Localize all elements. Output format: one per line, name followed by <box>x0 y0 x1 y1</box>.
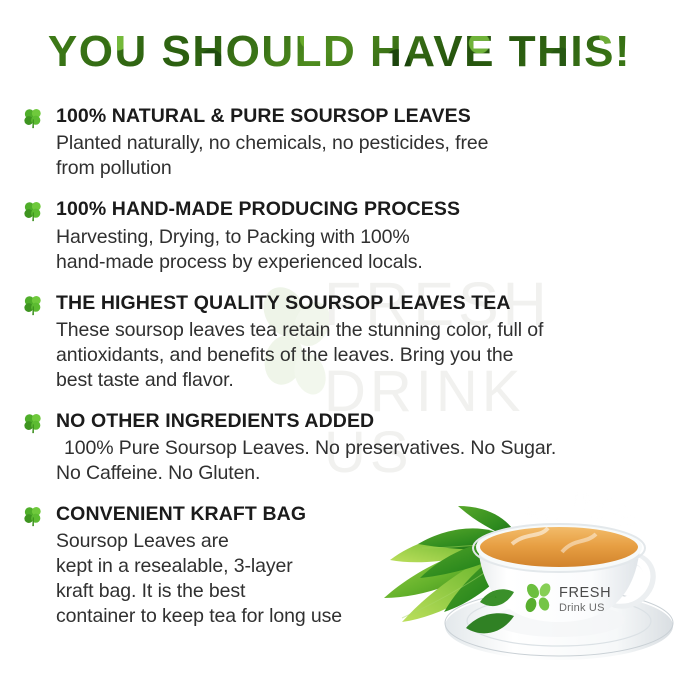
clover-bullet-icon <box>22 200 44 222</box>
cup-logo-line2: Drink US <box>559 602 605 614</box>
clover-bullet-icon <box>22 294 44 316</box>
title-container: YOU SHOULD HAVE THIS! <box>0 30 679 74</box>
clover-bullet-icon <box>22 412 44 434</box>
list-item: 100% NATURAL & PURE SOURSOP LEAVES Plant… <box>22 104 662 181</box>
benefit-heading: THE HIGHEST QUALITY SOURSOP LEAVES TEA <box>56 291 662 315</box>
benefit-body: 100% Pure Soursop Leaves. No preservativ… <box>56 436 662 486</box>
benefit-body: These soursop leaves tea retain the stun… <box>56 318 662 393</box>
benefit-body: Harvesting, Drying, to Packing with 100%… <box>56 225 662 275</box>
page-title: YOU SHOULD HAVE THIS! <box>48 30 631 74</box>
list-item: NO OTHER INGREDIENTS ADDED 100% Pure Sou… <box>22 409 662 486</box>
benefit-heading: 100% HAND-MADE PRODUCING PROCESS <box>56 197 662 221</box>
benefit-heading: 100% NATURAL & PURE SOURSOP LEAVES <box>56 104 662 128</box>
cup-logo-line1: FRESH <box>559 585 611 601</box>
product-infographic-canvas: FRESH DRINK US YOU SHOULD HAVE THIS! 100… <box>0 0 679 679</box>
benefit-body: Planted naturally, no chemicals, no pest… <box>56 131 662 181</box>
benefit-heading: NO OTHER INGREDIENTS ADDED <box>56 409 662 433</box>
list-item: THE HIGHEST QUALITY SOURSOP LEAVES TEA T… <box>22 291 662 393</box>
list-item: 100% HAND-MADE PRODUCING PROCESS Harvest… <box>22 197 662 274</box>
clover-bullet-icon <box>22 107 44 129</box>
clover-bullet-icon <box>22 505 44 527</box>
teacup-with-soursop-leaves-photo: FRESH Drink US <box>362 482 679 679</box>
